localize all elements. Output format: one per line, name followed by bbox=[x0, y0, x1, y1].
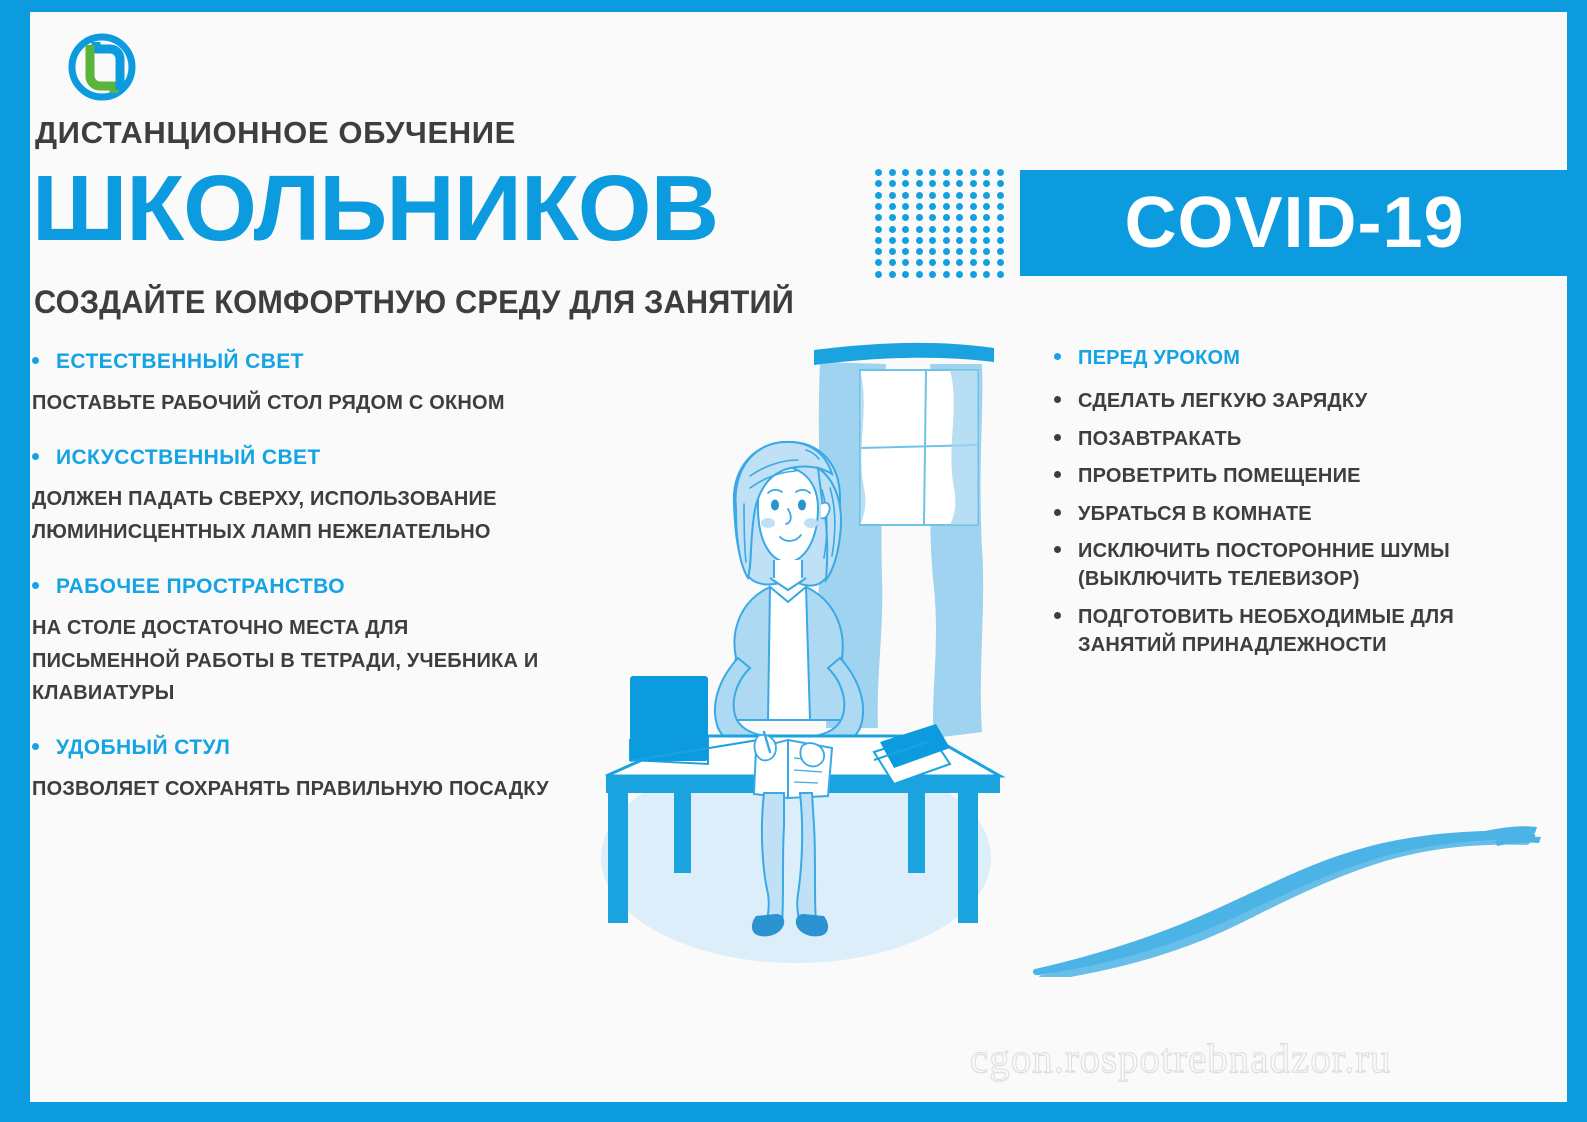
poster-frame: ДИСТАНЦИОННОЕ ОБУЧЕНИЕ ШКОЛЬНИКОВ COVID-… bbox=[0, 0, 1587, 1122]
dot bbox=[943, 259, 950, 266]
dot bbox=[875, 226, 882, 233]
checklist-item: СДЕЛАТЬ ЛЕГКУЮ ЗАРЯДКУ bbox=[1054, 387, 1524, 415]
dot bbox=[956, 203, 963, 210]
dot bbox=[902, 248, 909, 255]
tip-title-row: УДОБНЫЙ СТУЛ bbox=[32, 736, 562, 760]
dot bbox=[970, 248, 977, 255]
bullet-icon bbox=[32, 582, 39, 589]
checklist-item-line: СДЕЛАТЬ ЛЕГКУЮ ЗАРЯДКУ bbox=[1078, 387, 1367, 415]
left-column: ЕСТЕСТВЕННЫЙ СВЕТПОСТАВЬТЕ РАБОЧИЙ СТОЛ … bbox=[32, 350, 562, 806]
checklist-item-line: ИСКЛЮЧИТЬ ПОСТОРОННИЕ ШУМЫ bbox=[1078, 537, 1450, 565]
dot bbox=[956, 192, 963, 199]
checklist-title: ПЕРЕД УРОКОМ bbox=[1078, 344, 1240, 372]
tip-title: ЕСТЕСТВЕННЫЙ СВЕТ bbox=[56, 350, 304, 374]
dot bbox=[943, 226, 950, 233]
dot bbox=[997, 203, 1004, 210]
dot bbox=[916, 259, 923, 266]
dot bbox=[943, 203, 950, 210]
page-subtitle: СОЗДАЙТЕ КОМФОРТНУЮ СРЕДУ ДЛЯ ЗАНЯТИЙ bbox=[34, 284, 794, 321]
tip-title-row: ЕСТЕСТВЕННЫЙ СВЕТ bbox=[32, 350, 562, 374]
girl-studying-at-desk-illustration bbox=[578, 328, 1028, 968]
dot bbox=[902, 237, 909, 244]
dot bbox=[983, 169, 990, 176]
dot bbox=[875, 271, 882, 278]
dot bbox=[889, 180, 896, 187]
dot bbox=[889, 248, 896, 255]
dot bbox=[943, 271, 950, 278]
dot bbox=[956, 259, 963, 266]
dot bbox=[970, 169, 977, 176]
dot bbox=[875, 237, 882, 244]
checklist-item-text: СДЕЛАТЬ ЛЕГКУЮ ЗАРЯДКУ bbox=[1078, 387, 1367, 415]
dot bbox=[970, 271, 977, 278]
checklist-title-row: ПЕРЕД УРОКОМ bbox=[1054, 344, 1524, 372]
dot bbox=[983, 214, 990, 221]
dot bbox=[970, 259, 977, 266]
dot bbox=[875, 169, 882, 176]
site-watermark: cgon.rospotrebnadzor.ru bbox=[970, 1034, 1392, 1082]
tip-title: УДОБНЫЙ СТУЛ bbox=[56, 736, 230, 760]
dot bbox=[875, 214, 882, 221]
checklist-item: ПОЗАВТРАКАТЬ bbox=[1054, 425, 1524, 453]
dot bbox=[956, 248, 963, 255]
dot bbox=[902, 203, 909, 210]
dot bbox=[997, 192, 1004, 199]
dot bbox=[943, 237, 950, 244]
dot bbox=[875, 180, 882, 187]
tip-body-line: ЛЮМИНИСЦЕНТНЫХ ЛАМП НЕЖЕЛАТЕЛЬНО bbox=[32, 516, 562, 548]
tip-body-line: НА СТОЛЕ ДОСТАТОЧНО МЕСТА ДЛЯ bbox=[32, 612, 562, 644]
checklist-item: ПРОВЕТРИТЬ ПОМЕЩЕНИЕ bbox=[1054, 462, 1524, 490]
tip-block: РАБОЧЕЕ ПРОСТРАНСТВОНА СТОЛЕ ДОСТАТОЧНО … bbox=[32, 575, 562, 709]
dot bbox=[889, 237, 896, 244]
tip-body: НА СТОЛЕ ДОСТАТОЧНО МЕСТА ДЛЯПИСЬМЕННОЙ … bbox=[32, 612, 562, 709]
bullet-icon bbox=[32, 357, 39, 364]
dot bbox=[916, 169, 923, 176]
cgon-logo-icon bbox=[58, 29, 146, 105]
dot bbox=[889, 271, 896, 278]
dot bbox=[997, 226, 1004, 233]
dot bbox=[902, 180, 909, 187]
checklist-item-text: ПОДГОТОВИТЬ НЕОБХОДИМЫЕ ДЛЯЗАНЯТИЙ ПРИНА… bbox=[1078, 603, 1454, 660]
bullet-icon bbox=[32, 453, 39, 460]
dot bbox=[997, 180, 1004, 187]
dot-grid-decor bbox=[875, 169, 1007, 279]
dot bbox=[943, 214, 950, 221]
page-kicker: ДИСТАНЦИОННОЕ ОБУЧЕНИЕ bbox=[35, 115, 516, 151]
dot bbox=[983, 271, 990, 278]
brush-stroke-decor bbox=[1015, 787, 1567, 977]
checklist-item-line: ПОЗАВТРАКАТЬ bbox=[1078, 425, 1241, 453]
dot bbox=[875, 192, 882, 199]
dot bbox=[997, 271, 1004, 278]
bullet-icon bbox=[1054, 612, 1061, 619]
dot bbox=[929, 169, 936, 176]
tip-body-line: ПИСЬМЕННОЙ РАБОТЫ В ТЕТРАДИ, УЧЕБНИКА И bbox=[32, 645, 562, 677]
dot bbox=[889, 259, 896, 266]
dot bbox=[889, 169, 896, 176]
tip-body: ДОЛЖЕН ПАДАТЬ СВЕРХУ, ИСПОЛЬЗОВАНИЕЛЮМИН… bbox=[32, 483, 562, 548]
dot bbox=[875, 203, 882, 210]
checklist-item: ИСКЛЮЧИТЬ ПОСТОРОННИЕ ШУМЫ(ВЫКЛЮЧИТЬ ТЕЛ… bbox=[1054, 537, 1524, 594]
covid-badge-label: COVID-19 bbox=[1124, 187, 1464, 259]
checklist-item-line: ЗАНЯТИЙ ПРИНАДЛЕЖНОСТИ bbox=[1078, 631, 1454, 659]
covid-badge: COVID-19 bbox=[1020, 170, 1567, 276]
tip-block: ЕСТЕСТВЕННЫЙ СВЕТПОСТАВЬТЕ РАБОЧИЙ СТОЛ … bbox=[32, 350, 562, 419]
dot bbox=[983, 248, 990, 255]
dot bbox=[916, 180, 923, 187]
bullet-icon bbox=[32, 743, 39, 750]
dot bbox=[956, 214, 963, 221]
tip-body: ПОЗВОЛЯЕТ СОХРАНЯТЬ ПРАВИЛЬНУЮ ПОСАДКУ bbox=[32, 773, 562, 805]
dot bbox=[970, 214, 977, 221]
checklist-item-line: УБРАТЬСЯ В КОМНАТЕ bbox=[1078, 500, 1312, 528]
dot bbox=[916, 214, 923, 221]
bullet-icon bbox=[1054, 396, 1061, 403]
dot bbox=[943, 169, 950, 176]
dot bbox=[916, 192, 923, 199]
dot bbox=[929, 214, 936, 221]
dot bbox=[916, 237, 923, 244]
tip-title-row: ИСКУССТВЕННЫЙ СВЕТ bbox=[32, 446, 562, 470]
tip-block: УДОБНЫЙ СТУЛПОЗВОЛЯЕТ СОХРАНЯТЬ ПРАВИЛЬН… bbox=[32, 736, 562, 805]
dot bbox=[889, 214, 896, 221]
dot bbox=[916, 271, 923, 278]
dot bbox=[902, 271, 909, 278]
dot bbox=[970, 180, 977, 187]
dot bbox=[902, 192, 909, 199]
dot bbox=[997, 248, 1004, 255]
dot bbox=[956, 237, 963, 244]
dot bbox=[929, 248, 936, 255]
bullet-icon bbox=[1054, 353, 1061, 360]
checklist-item-line: ПРОВЕТРИТЬ ПОМЕЩЕНИЕ bbox=[1078, 462, 1361, 490]
dot bbox=[970, 226, 977, 233]
dot bbox=[916, 248, 923, 255]
dot bbox=[929, 271, 936, 278]
dot bbox=[929, 180, 936, 187]
checklist-item-line: ПОДГОТОВИТЬ НЕОБХОДИМЫЕ ДЛЯ bbox=[1078, 603, 1454, 631]
dot bbox=[916, 203, 923, 210]
right-column: ПЕРЕД УРОКОМСДЕЛАТЬ ЛЕГКУЮ ЗАРЯДКУПОЗАВТ… bbox=[1054, 344, 1524, 669]
dot bbox=[983, 259, 990, 266]
dot bbox=[875, 248, 882, 255]
checklist-item-text: ПРОВЕТРИТЬ ПОМЕЩЕНИЕ bbox=[1078, 462, 1361, 490]
dot bbox=[997, 214, 1004, 221]
dot bbox=[983, 180, 990, 187]
dot bbox=[889, 192, 896, 199]
bullet-icon bbox=[1054, 546, 1061, 553]
dot bbox=[929, 226, 936, 233]
dot bbox=[902, 259, 909, 266]
bullet-icon bbox=[1054, 509, 1061, 516]
dot bbox=[956, 169, 963, 176]
tip-block: ИСКУССТВЕННЫЙ СВЕТДОЛЖЕН ПАДАТЬ СВЕРХУ, … bbox=[32, 446, 562, 548]
tip-body-line: ДОЛЖЕН ПАДАТЬ СВЕРХУ, ИСПОЛЬЗОВАНИЕ bbox=[32, 483, 562, 515]
dot bbox=[889, 226, 896, 233]
tip-title: РАБОЧЕЕ ПРОСТРАНСТВО bbox=[56, 575, 345, 599]
poster-sheet: ДИСТАНЦИОННОЕ ОБУЧЕНИЕ ШКОЛЬНИКОВ COVID-… bbox=[30, 12, 1567, 1102]
dot bbox=[956, 180, 963, 187]
bullet-icon bbox=[1054, 434, 1061, 441]
dot bbox=[889, 203, 896, 210]
dot bbox=[997, 259, 1004, 266]
tip-body-line: ПОСТАВЬТЕ РАБОЧИЙ СТОЛ РЯДОМ С ОКНОМ bbox=[32, 387, 562, 419]
dot bbox=[929, 237, 936, 244]
checklist-item: УБРАТЬСЯ В КОМНАТЕ bbox=[1054, 500, 1524, 528]
dot bbox=[983, 192, 990, 199]
dot bbox=[902, 214, 909, 221]
dot bbox=[997, 169, 1004, 176]
dot bbox=[956, 271, 963, 278]
dot bbox=[916, 226, 923, 233]
dot bbox=[902, 226, 909, 233]
dot bbox=[929, 203, 936, 210]
checklist-item: ПОДГОТОВИТЬ НЕОБХОДИМЫЕ ДЛЯЗАНЯТИЙ ПРИНА… bbox=[1054, 603, 1524, 660]
checklist-item-line: (ВЫКЛЮЧИТЬ ТЕЛЕВИЗОР) bbox=[1078, 565, 1450, 593]
page-title: ШКОЛЬНИКОВ bbox=[32, 162, 718, 255]
dot bbox=[929, 192, 936, 199]
tip-body-line: ПОЗВОЛЯЕТ СОХРАНЯТЬ ПРАВИЛЬНУЮ ПОСАДКУ bbox=[32, 773, 562, 805]
dot bbox=[875, 259, 882, 266]
dot bbox=[943, 248, 950, 255]
dot bbox=[943, 192, 950, 199]
dot bbox=[970, 203, 977, 210]
dot bbox=[902, 169, 909, 176]
dot bbox=[956, 226, 963, 233]
tip-title: ИСКУССТВЕННЫЙ СВЕТ bbox=[56, 446, 321, 470]
bullet-icon bbox=[1054, 471, 1061, 478]
tip-title-row: РАБОЧЕЕ ПРОСТРАНСТВО bbox=[32, 575, 562, 599]
tip-body: ПОСТАВЬТЕ РАБОЧИЙ СТОЛ РЯДОМ С ОКНОМ bbox=[32, 387, 562, 419]
dot bbox=[983, 203, 990, 210]
checklist-item-text: ИСКЛЮЧИТЬ ПОСТОРОННИЕ ШУМЫ(ВЫКЛЮЧИТЬ ТЕЛ… bbox=[1078, 537, 1450, 594]
checklist-item-text: УБРАТЬСЯ В КОМНАТЕ bbox=[1078, 500, 1312, 528]
checklist-item-text: ПОЗАВТРАКАТЬ bbox=[1078, 425, 1241, 453]
dot bbox=[997, 237, 1004, 244]
dot bbox=[943, 180, 950, 187]
dot bbox=[970, 237, 977, 244]
dot bbox=[929, 259, 936, 266]
dot bbox=[970, 192, 977, 199]
dot bbox=[983, 226, 990, 233]
tip-body-line: КЛАВИАТУРЫ bbox=[32, 677, 562, 709]
dot bbox=[983, 237, 990, 244]
